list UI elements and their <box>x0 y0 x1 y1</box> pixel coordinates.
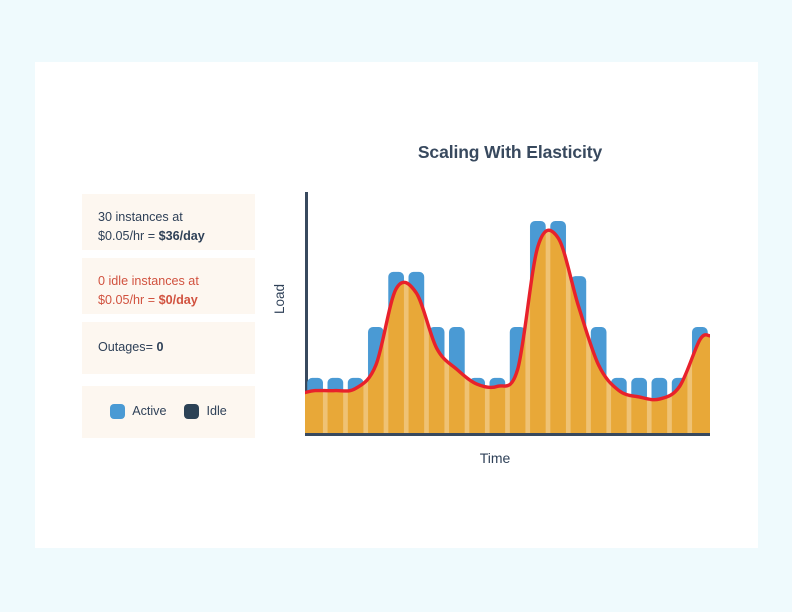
idle-cost-total: $0/day <box>159 293 198 307</box>
instances-cost-total: $36/day <box>159 229 205 243</box>
x-axis-label: Time <box>280 450 710 466</box>
info-box-outages: Outages= 0 <box>82 322 255 374</box>
legend-label-active: Active <box>132 402 166 421</box>
outages-line: Outages= 0 <box>98 338 163 357</box>
chart-plot-area <box>305 188 710 436</box>
idle-cost-line2: $0.05/hr = $0/day <box>98 291 239 310</box>
legend-swatch-active-icon <box>110 404 125 419</box>
page-title: Scaling With Elasticity <box>300 142 720 163</box>
idle-cost-rate: $0.05/hr = <box>98 293 159 307</box>
info-box-instances-cost: 30 instances at $0.05/hr = $36/day <box>82 194 255 250</box>
elasticity-chart: Load Time <box>280 188 720 478</box>
outages-value: 0 <box>156 340 163 354</box>
idle-cost-line1: 0 idle instances at <box>98 272 239 291</box>
instances-cost-line1: 30 instances at <box>98 208 239 227</box>
info-box-idle-cost: 0 idle instances at $0.05/hr = $0/day <box>82 258 255 314</box>
legend-swatch-idle-icon <box>184 404 199 419</box>
y-axis-label: Load <box>272 284 287 314</box>
legend-label-idle: Idle <box>206 402 226 421</box>
outages-label: Outages= <box>98 340 156 354</box>
legend-item-idle: Idle <box>184 402 226 421</box>
chart-legend: Active Idle <box>82 386 255 438</box>
legend-item-active: Active <box>110 402 166 421</box>
instances-cost-line2: $0.05/hr = $36/day <box>98 227 239 246</box>
instances-cost-rate: $0.05/hr = <box>98 229 159 243</box>
